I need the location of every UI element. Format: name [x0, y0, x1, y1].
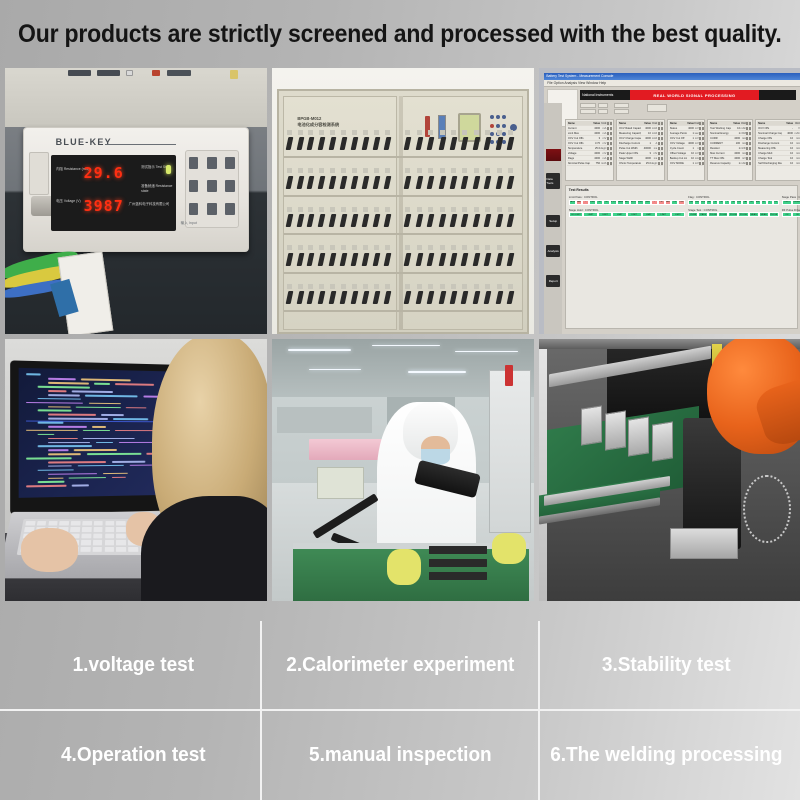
parameter-row: Self Discharging Review10mA — [757, 161, 800, 166]
results-title: Test Results — [569, 188, 589, 192]
control-button[interactable] — [502, 140, 506, 144]
window-titlebar: Battery Test System - Measurement Consol… — [544, 73, 800, 80]
keyboard-key[interactable] — [116, 540, 126, 545]
result-cell[interactable]: FAIL — [576, 200, 583, 205]
parameter-name: Max Current — [710, 152, 731, 155]
code-line — [87, 453, 142, 455]
parameter-flags[interactable] — [746, 127, 750, 130]
equipment-rack — [489, 370, 531, 532]
battery-clip-holder — [497, 207, 502, 212]
result-cell[interactable]: LIMIT — [598, 212, 613, 217]
col-flags — [699, 122, 702, 125]
ceiling-light — [455, 351, 518, 352]
code-line — [48, 437, 77, 439]
code-line — [94, 383, 110, 385]
code-line — [48, 413, 95, 415]
result-cell[interactable]: OK — [603, 200, 610, 205]
result-cell[interactable]: LIMIT — [589, 200, 596, 205]
battery-clip-holder — [440, 130, 445, 135]
resistance-value-display: 29.6 — [84, 164, 124, 182]
col-name: Name — [670, 122, 687, 125]
toolbar-control[interactable] — [598, 103, 608, 108]
voltage-test-photo: BLUE-KEY 内阻 Resistance (mΩ) 电压 Voltage (… — [5, 68, 267, 334]
parameter-flags[interactable] — [746, 137, 750, 140]
meter-brand-label: BLUE-KEY — [56, 137, 112, 147]
menubar-items[interactable]: File Option Analysis View Window Help — [547, 81, 606, 85]
parameter-value: 4000 — [591, 157, 601, 160]
parameter-value: 10 — [783, 157, 793, 160]
result-strips: Limit Pass : CONTROLPASSFAIL-LIMITOKOKGO… — [569, 195, 795, 218]
battery-clip-holder — [508, 245, 513, 250]
result-cell[interactable]: OK — [773, 200, 779, 205]
keyboard-key[interactable] — [94, 521, 103, 526]
battery-clip-holder — [508, 207, 513, 212]
keyboard-key[interactable] — [105, 521, 114, 526]
result-cell[interactable]: LIMIT — [782, 200, 793, 205]
battery-clip-holder — [497, 245, 502, 250]
welding-photo — [539, 339, 800, 601]
parameter-flags[interactable] — [607, 142, 611, 145]
col-name: Name — [710, 122, 731, 125]
result-cell[interactable]: - — [651, 200, 658, 205]
parameter-flags[interactable] — [607, 127, 611, 130]
battery-clip-holder — [374, 245, 379, 250]
parameter-name: Stage Width — [619, 157, 641, 160]
battery-clip-holder — [330, 284, 335, 289]
keyboard-key[interactable] — [82, 528, 92, 533]
parameter-flags[interactable] — [658, 127, 662, 130]
battery-test-card — [57, 251, 112, 334]
control-button[interactable] — [496, 115, 500, 119]
battery-clip-holder — [341, 130, 346, 135]
cabinet-shelf — [284, 233, 522, 235]
parameter-flags[interactable] — [658, 162, 662, 165]
result-cell[interactable]: OK — [782, 212, 793, 217]
shelf-object — [167, 70, 191, 75]
code-line — [48, 453, 81, 455]
keyboard-key[interactable] — [93, 528, 103, 533]
keyboard-key[interactable] — [116, 547, 126, 552]
keyboard-key[interactable] — [37, 521, 47, 526]
result-cell[interactable]: LIMIT — [612, 212, 627, 217]
battery-clip-holder — [451, 130, 456, 135]
caption-operation-test: 4.Operation test — [7, 711, 260, 800]
parameter-flags[interactable] — [746, 147, 750, 150]
result-cell[interactable]: GOOD — [610, 200, 617, 205]
battery-clip-holder — [374, 284, 379, 289]
parameter-value: 4000 — [642, 127, 651, 130]
code-line — [37, 445, 92, 447]
code-line — [48, 405, 70, 407]
battery-clip-holder — [308, 168, 313, 173]
worker-glove-left — [387, 549, 421, 586]
col-flags — [607, 122, 611, 125]
parameter-name: Measuring Capacity — [619, 132, 641, 135]
sidebar-item-setup[interactable]: Setup — [546, 215, 560, 227]
keyboard-key[interactable] — [105, 528, 114, 533]
keyboard-key[interactable] — [81, 534, 91, 539]
meter-left-panel — [29, 152, 49, 195]
keyboard-key[interactable] — [80, 547, 90, 552]
page-title: Our products are strictly screened and p… — [18, 20, 782, 49]
result-cell[interactable]: PULSE — [728, 212, 738, 217]
code-line — [72, 484, 88, 486]
result-cell[interactable]: LIMIT — [644, 200, 651, 205]
result-cell[interactable]: ALL — [624, 200, 631, 205]
keypad-key — [189, 180, 198, 192]
parameter-unit: mAh — [651, 137, 657, 140]
parameter-flags[interactable] — [607, 147, 611, 150]
control-button[interactable] — [490, 115, 494, 119]
keyboard-key[interactable] — [71, 521, 81, 526]
parameter-flags[interactable] — [746, 162, 750, 165]
result-cell[interactable]: OK — [596, 200, 603, 205]
result-cell[interactable]: PULSE — [718, 212, 728, 217]
keyboard-key[interactable] — [81, 540, 91, 545]
code-line — [77, 464, 123, 466]
result-cell[interactable]: PULSE — [738, 212, 748, 217]
result-strip: Stage Hold : CONTROLBO LIMITLIMITLIMITLI… — [569, 208, 685, 219]
parameter-flags[interactable] — [658, 142, 662, 145]
battery-clip-holder — [462, 130, 467, 135]
result-cell[interactable]: LIMIT — [656, 212, 671, 217]
parameter-unit: mV — [600, 152, 606, 155]
parameter-flags[interactable] — [699, 162, 702, 165]
blue-key-meter: BLUE-KEY 内阻 Resistance (mΩ) 电压 Voltage (… — [23, 127, 248, 252]
ceiling-light — [372, 345, 440, 346]
parameter-unit: mA — [793, 162, 800, 165]
code-line — [101, 414, 124, 416]
parameter-panel: NameValueUnitCurrent4000mALimit Max4000m… — [565, 119, 614, 181]
parameter-value: 4000 — [642, 157, 651, 160]
battery-clip-holder — [417, 168, 422, 173]
cabinet-name-text: 电池化成分容检测系统 — [297, 122, 339, 127]
code-line — [76, 406, 121, 408]
parameter-unit: mAh — [793, 132, 800, 135]
result-cell[interactable]: PASS — [665, 200, 672, 205]
battery-clip-holder — [474, 245, 479, 250]
result-cell[interactable]: MEAS — [759, 212, 769, 217]
parameter-unit: mA — [740, 152, 746, 155]
cabinet-model-text: BPGB-M012 — [297, 116, 321, 121]
parameter-flags[interactable] — [699, 137, 702, 140]
keyboard-key[interactable] — [93, 540, 103, 545]
parameter-row: Reserve Capacity1mAh — [709, 161, 751, 166]
battery-clip-holder — [440, 168, 445, 173]
cabinet-shelf — [284, 272, 522, 274]
parameter-value: 1 — [731, 147, 740, 150]
keyboard-key[interactable] — [105, 540, 115, 545]
parameter-name: TT Max Offs — [710, 157, 731, 160]
result-strip-cells: BO LIMITLIMITLIMITLIMITLIMITLIMITLIMITLI… — [569, 212, 685, 217]
parameter-flags[interactable] — [699, 127, 702, 130]
result-cell[interactable]: LIMIT — [642, 212, 657, 217]
parameter-name: CURRENT — [710, 142, 731, 145]
battery-clip-holder — [405, 245, 410, 250]
result-cell[interactable]: LIMIT/OK — [630, 200, 637, 205]
status-lamp-indicator — [166, 165, 171, 174]
toolbar-control[interactable] — [580, 109, 595, 114]
battery-clip-holder — [405, 168, 410, 173]
parameter-value: 1 — [642, 142, 651, 145]
keyboard-key[interactable] — [92, 547, 102, 552]
parameter-unit: mA — [600, 157, 606, 160]
keypad-key — [207, 180, 217, 192]
shelf-object — [97, 70, 121, 75]
left-hand — [21, 528, 79, 573]
keypad-key — [225, 203, 234, 215]
col-value: Value — [591, 122, 601, 125]
battery-clip-holder — [428, 168, 433, 173]
code-line — [48, 382, 88, 384]
parameter-value: 10 — [687, 152, 694, 155]
battery-clip-holder — [417, 130, 422, 135]
control-button[interactable] — [502, 132, 506, 136]
parameter-name: Peak Upper Offs — [619, 152, 641, 155]
parameter-name: OCV Rated Capacity — [619, 127, 641, 130]
keyboard-key[interactable] — [104, 547, 114, 552]
parameter-unit: mA — [793, 142, 800, 145]
parameter-value: 4000 — [687, 142, 694, 145]
battery-clip-holder — [385, 284, 390, 289]
parameter-flags[interactable] — [658, 152, 662, 155]
caption-divider-horizontal — [0, 709, 800, 711]
control-button[interactable] — [490, 124, 494, 128]
parameter-unit: mAh — [651, 127, 657, 130]
result-cell[interactable]: PASS — [569, 200, 576, 205]
keyboard-key[interactable] — [105, 534, 115, 539]
control-button[interactable] — [490, 132, 494, 136]
software-window: Battery Test System - Measurement Consol… — [544, 73, 800, 334]
battery-clip-holder — [474, 284, 479, 289]
result-cell[interactable]: PASS/OFF — [637, 200, 644, 205]
result-cell[interactable]: OK — [671, 200, 678, 205]
parameter-name: Self Discharging Review — [758, 162, 782, 165]
keyboard-key[interactable] — [48, 521, 58, 526]
control-button[interactable] — [502, 124, 506, 128]
code-line — [83, 437, 134, 439]
parameter-unit: mOhm — [740, 147, 746, 150]
toolbar-control[interactable] — [614, 103, 629, 108]
battery-clip-holder — [308, 207, 313, 212]
battery-clip-holder — [440, 284, 445, 289]
keyboard-key[interactable] — [70, 528, 80, 533]
parameter-unit: mA — [740, 142, 746, 145]
caption-grid: 1.voltage test 2.Calorimeter experiment … — [0, 621, 800, 800]
brand-banner-black-text: National Instruments — [582, 93, 613, 97]
parameter-flags[interactable] — [658, 147, 662, 150]
code-line — [26, 457, 72, 459]
result-cell[interactable]: - — [582, 200, 589, 205]
code-line — [48, 390, 66, 392]
parameter-row: Nominal Pulse Capacity750mAh — [567, 161, 612, 166]
parameter-flags[interactable] — [699, 152, 702, 155]
battery-clip-holder — [474, 130, 479, 135]
keyboard-key[interactable] — [93, 534, 103, 539]
battery-clip-holder — [428, 130, 433, 135]
manual-inspection-photo — [272, 339, 534, 601]
parameter-flags[interactable] — [607, 132, 611, 135]
parameter-name: OCV MODE — [670, 162, 687, 165]
code-line — [81, 378, 131, 381]
parameter-name: Flags — [568, 157, 590, 160]
keyboard-key[interactable] — [116, 521, 125, 526]
result-strip-label: Flag : CONTROL — [688, 195, 779, 199]
battery-clip-holder — [374, 168, 379, 173]
code-line — [37, 469, 74, 471]
code-line — [48, 378, 76, 380]
code-line — [26, 429, 78, 431]
parameter-flags[interactable] — [699, 147, 702, 150]
parameter-unit: mAh — [740, 162, 746, 165]
battery-clip-holder — [363, 130, 368, 135]
result-cell[interactable]: PASS — [698, 212, 708, 217]
parameter-flags[interactable] — [699, 142, 702, 145]
battery-clip-holder — [287, 284, 292, 289]
pink-component-tray — [309, 439, 382, 460]
battery-clip-holder — [341, 207, 346, 212]
keyboard-key[interactable] — [116, 528, 125, 533]
result-cell[interactable]: LIMIT — [583, 212, 598, 217]
battery-clip-holder — [497, 168, 502, 173]
battery-clip-holder — [508, 130, 513, 135]
col-value: Value — [642, 122, 651, 125]
battery-clip-holder — [474, 168, 479, 173]
parameter-unit: ms — [651, 147, 657, 150]
result-cell[interactable]: MEAS — [617, 200, 624, 205]
parameter-flags[interactable] — [607, 162, 611, 165]
control-button[interactable] — [496, 124, 500, 128]
result-cell[interactable]: PULSE — [769, 212, 779, 217]
parameter-unit: mV — [600, 142, 606, 145]
battery-clip-holder — [385, 168, 390, 173]
parameter-flags[interactable] — [699, 157, 702, 160]
parameter-flags[interactable] — [746, 152, 750, 155]
code-line — [72, 390, 113, 392]
col-name: Name — [568, 122, 590, 125]
keyboard-key[interactable] — [116, 534, 125, 539]
signal-tower-light — [505, 365, 513, 386]
sidebar-item-data-tools[interactable]: Data Tools — [546, 173, 560, 189]
parameter-flags[interactable] — [746, 132, 750, 135]
result-cell[interactable]: LIMIT — [671, 212, 686, 217]
parameter-name: Pulse Cut Width — [619, 147, 641, 150]
code-line — [48, 417, 108, 419]
toolbar-control[interactable] — [580, 103, 595, 108]
sidebar-item-analysis[interactable]: Analysis — [546, 245, 560, 257]
parameter-row: OCV MODE1mV — [669, 161, 703, 166]
code-line — [103, 472, 128, 474]
col-unit: Unit — [740, 122, 746, 125]
keyboard-key[interactable] — [25, 521, 35, 526]
battery-clip-holder — [319, 207, 324, 212]
parameter-flags[interactable] — [699, 132, 702, 135]
battery-clip-holder — [352, 207, 357, 212]
keypad-key — [207, 203, 217, 215]
parameter-unit: mA — [600, 127, 606, 130]
toolbar-control[interactable] — [598, 109, 608, 114]
col-unit: Unit — [600, 122, 606, 125]
keyboard-key[interactable] — [59, 521, 69, 526]
parts-cart — [317, 467, 364, 498]
parameter-flags[interactable] — [658, 137, 662, 140]
code-line — [48, 465, 72, 467]
battery-clip-holder — [330, 207, 335, 212]
parameter-name: Charge Mult — [758, 152, 782, 155]
parameter-value: 3.70 — [591, 142, 601, 145]
battery-clip-holder — [428, 245, 433, 250]
parameter-unit: mWh — [740, 132, 746, 135]
battery-clip-holder — [417, 284, 422, 289]
window-menubar[interactable]: File Option Analysis View Window Help — [544, 80, 800, 87]
result-cell[interactable]: CURRENT — [792, 200, 800, 205]
result-cell[interactable]: OFF — [678, 200, 685, 205]
code-line — [26, 401, 83, 403]
result-cell[interactable]: OK — [658, 200, 665, 205]
sidebar-item-report[interactable]: Report — [546, 275, 560, 287]
code-line — [113, 418, 148, 420]
battery-clip-holder — [440, 245, 445, 250]
parameter-value: 4000 — [731, 137, 740, 140]
parameter-unit: degC — [600, 147, 606, 150]
person-shoulder — [141, 496, 267, 601]
parameter-name: CURR — [710, 137, 731, 140]
parameter-flags[interactable] — [746, 142, 750, 145]
code-line — [37, 397, 81, 399]
battery-clip-holder — [374, 207, 379, 212]
col-value: Value — [783, 122, 793, 125]
parameter-flags[interactable] — [658, 157, 662, 160]
parameter-name: Resistor — [710, 147, 731, 150]
result-cell[interactable]: LIMIT — [627, 212, 642, 217]
result-cell[interactable]: OK — [792, 212, 800, 217]
parameter-flags[interactable] — [607, 137, 611, 140]
background-shelf — [5, 68, 267, 127]
keyboard-key[interactable] — [128, 547, 138, 552]
result-cell[interactable]: BO LIMIT — [569, 212, 584, 217]
result-cell[interactable]: PULSE — [708, 212, 718, 217]
parameter-value: 4000 — [642, 137, 651, 140]
code-line — [129, 464, 152, 466]
battery-clip-holder — [287, 130, 292, 135]
control-button[interactable] — [502, 115, 506, 119]
col-flags — [746, 122, 750, 125]
result-cell[interactable]: MEAS — [749, 212, 759, 217]
parameter-name: OCV Cut Offs — [568, 137, 590, 140]
run-button[interactable] — [647, 104, 668, 112]
keypad-key — [189, 157, 198, 169]
toolbar-control[interactable] — [614, 109, 629, 114]
parameter-value: 3 — [642, 152, 651, 155]
product-quality-banner: Our products are strictly screened and p… — [0, 0, 800, 800]
result-strip-cells: PASSFAIL-LIMITOKOKGOODMEASALLLIMIT/OKPAS… — [569, 200, 685, 205]
result-cell[interactable]: CURR — [688, 212, 698, 217]
keyboard-key[interactable] — [82, 521, 92, 526]
parameter-flags[interactable] — [658, 132, 662, 135]
parameter-name: Charge Tool — [758, 157, 782, 160]
battery-clip-holder — [417, 245, 422, 250]
parameter-name: Ohmic Temperature — [619, 162, 641, 165]
col-value: Value — [731, 122, 740, 125]
parameter-flags[interactable] — [746, 157, 750, 160]
code-line — [83, 429, 110, 431]
parameter-value: 40000 — [642, 147, 651, 150]
parameter-name: Discharge Current — [619, 142, 641, 145]
result-strip-cells: FLATOPENPULSELIMITOKOK1OKOPENVALOKAMPOK1… — [688, 200, 779, 205]
result-strip: RF Pulse Driven : CONTROLOKOKFAILPULSEOK… — [782, 208, 800, 219]
parameter-flags[interactable] — [607, 152, 611, 155]
parameter-flags[interactable] — [607, 157, 611, 160]
